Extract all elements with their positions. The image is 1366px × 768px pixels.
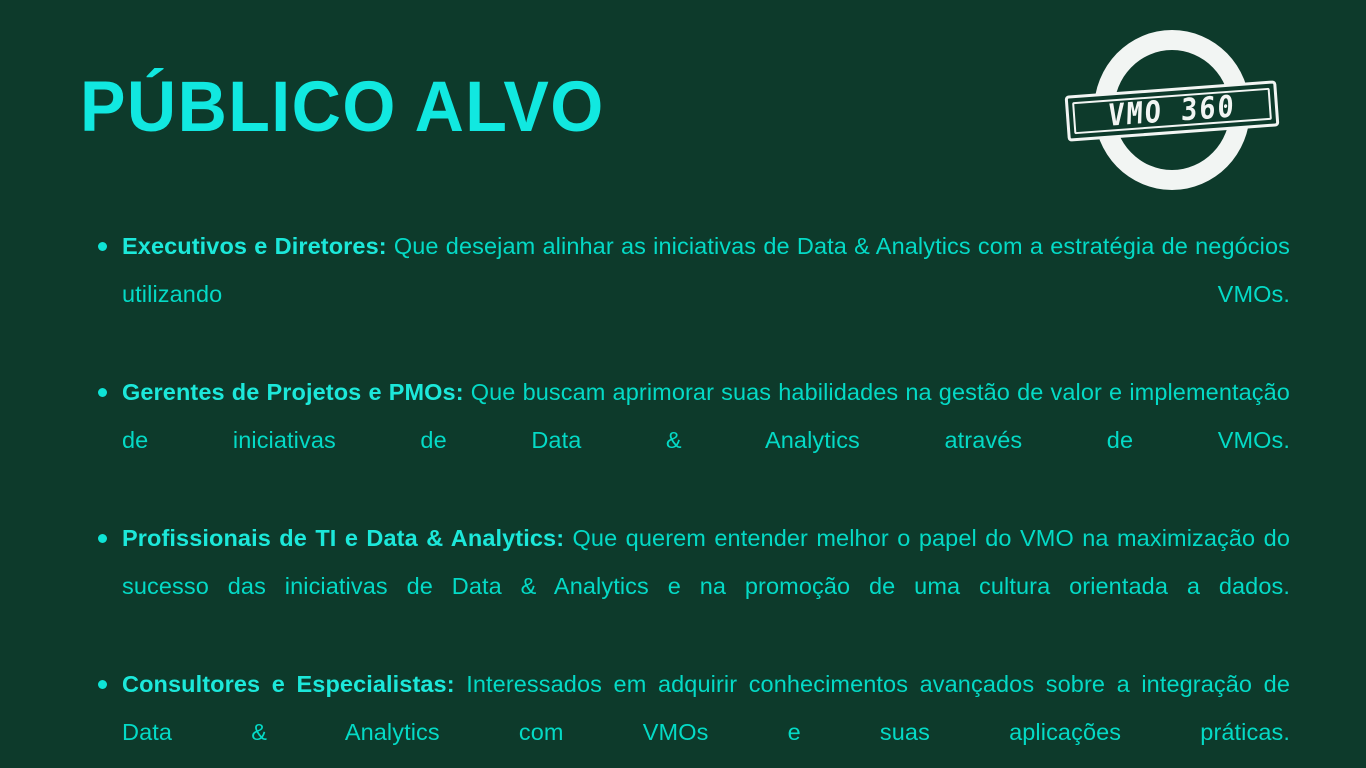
list-item: Profissionais de TI e Data & Analytics: … xyxy=(98,514,1290,658)
bullet-list: Executivos e Diretores: Que desejam alin… xyxy=(98,222,1290,768)
page-title: PÚBLICO ALVO xyxy=(80,72,605,143)
list-item-label: Profissionais de TI e Data & Analytics: xyxy=(122,525,564,551)
bullet-dot-icon xyxy=(98,680,107,689)
vmo-360-logo: VMO 360 xyxy=(1088,26,1254,194)
list-item: Consultores e Especialistas: Interessado… xyxy=(98,660,1290,768)
list-item: Executivos e Diretores: Que desejam alin… xyxy=(98,222,1290,366)
logo-text: VMO 360 xyxy=(1108,91,1236,131)
list-item: Gerentes de Projetos e PMOs: Que buscam … xyxy=(98,368,1290,512)
list-item-label: Gerentes de Projetos e PMOs: xyxy=(122,379,464,405)
bullet-dot-icon xyxy=(98,242,107,251)
bullet-dot-icon xyxy=(98,388,107,397)
list-item-label: Consultores e Especialistas: xyxy=(122,671,455,697)
bullet-dot-icon xyxy=(98,534,107,543)
slide: PÚBLICO ALVO VMO 360 Executivos e Direto… xyxy=(0,0,1366,768)
list-item-label: Executivos e Diretores: xyxy=(122,233,387,259)
